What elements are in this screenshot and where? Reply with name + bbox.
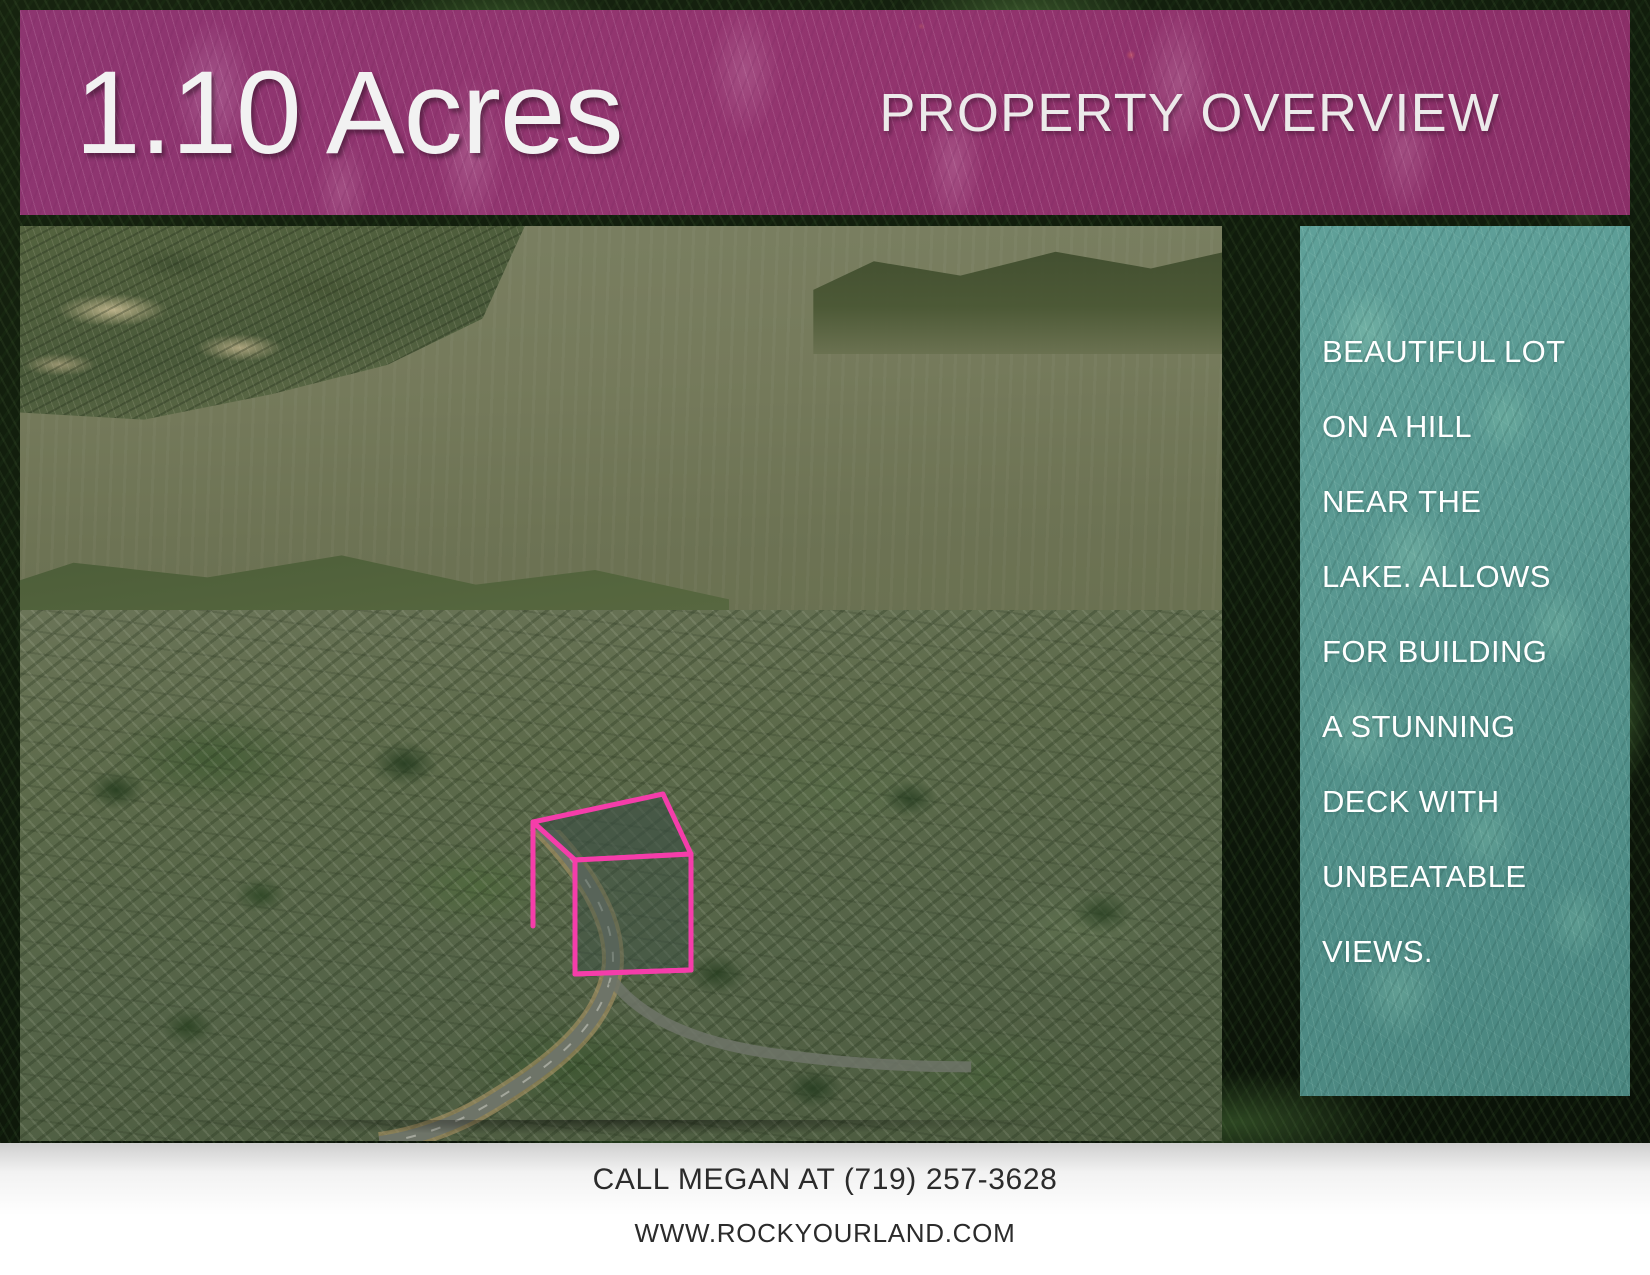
access-road: [284, 830, 981, 1141]
description-line: DECK WITH: [1322, 786, 1616, 817]
aerial-photo-panel: [20, 226, 1222, 1141]
contact-footer: CALL MEGAN AT (719) 257-3628 WWW.ROCKYOU…: [0, 1143, 1650, 1275]
description-line: UNBEATABLE: [1322, 861, 1616, 892]
banner-subtitle: PROPERTY OVERVIEW: [879, 86, 1500, 140]
header-banner: 1.10 Acres PROPERTY OVERVIEW: [20, 10, 1630, 215]
contact-phone-text: CALL MEGAN AT (719) 257-3628: [593, 1157, 1058, 1202]
page-title: 1.10 Acres: [75, 54, 623, 172]
description-line: LAKE. ALLOWS: [1322, 561, 1616, 592]
description-sidebar: BEAUTIFUL LOT ON A HILL NEAR THE LAKE. A…: [1300, 226, 1630, 1096]
description-line: BEAUTIFUL LOT: [1322, 336, 1616, 367]
flyer-canvas: 1.10 Acres PROPERTY OVERVIEW: [0, 0, 1650, 1275]
description-line: A STUNNING: [1322, 711, 1616, 742]
sidebar-description-text: BEAUTIFUL LOT ON A HILL NEAR THE LAKE. A…: [1300, 226, 1630, 1011]
description-line: FOR BUILDING: [1322, 636, 1616, 667]
description-line: NEAR THE: [1322, 486, 1616, 517]
description-line: VIEWS.: [1322, 936, 1616, 967]
description-line: ON A HILL: [1322, 411, 1616, 442]
website-url-text: WWW.ROCKYOURLAND.COM: [635, 1214, 1016, 1253]
